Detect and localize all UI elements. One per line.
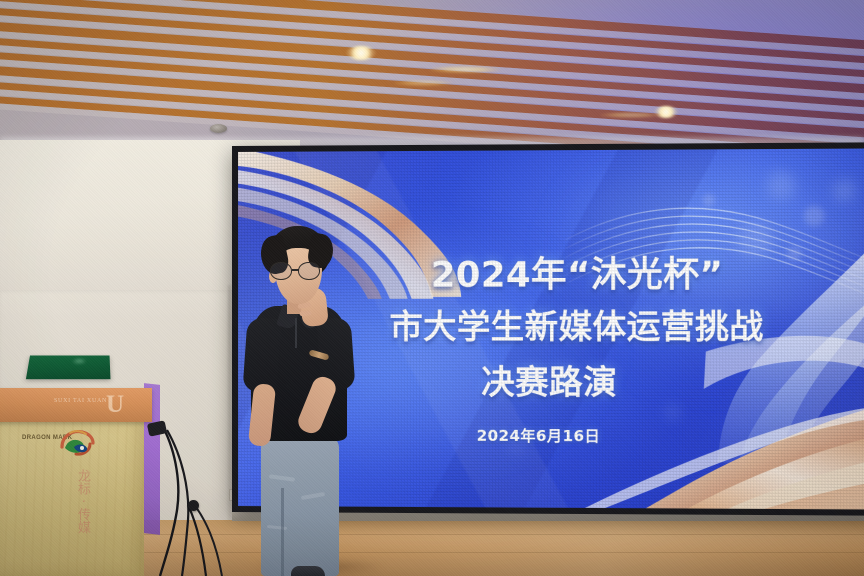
lectern-top-band: SUXI TAI XUAN U (0, 388, 152, 422)
podium-laptop-screen (26, 356, 111, 380)
slide-title-line-2: 市大学生新媒体运营挑战 (389, 300, 763, 349)
eyeglass-lens-left (270, 262, 292, 280)
slat-light-reflection (394, 80, 452, 86)
slide-title-line-1: 2024年“沐光杯” (431, 246, 724, 298)
ceiling (0, 0, 864, 152)
lectern-front-panel: DRAGON MARK 龙标 · 传媒 (0, 421, 144, 576)
dragon-mark-logo-icon (56, 427, 96, 457)
smoke-detector-icon (210, 124, 227, 133)
lectern: DRAGON MARK 龙标 · 传媒 SUXI TAI XUAN U (0, 388, 172, 576)
lectern-band-text: SUXI TAI XUAN (54, 398, 107, 404)
jeans-leg-seam (281, 488, 284, 576)
photo-scene: 2024年“沐光杯” 市大学生新媒体运营挑战 决赛路演 2024年6月16日 D… (0, 0, 864, 576)
polo-placket (295, 318, 297, 348)
eyeglass-bridge (292, 269, 299, 271)
university-u-logo-icon: U (104, 392, 126, 418)
eyeglass-lens-right (298, 262, 320, 280)
slat-light-reflection (430, 66, 500, 73)
finger (299, 310, 311, 316)
presenter-sleeve-left (242, 317, 281, 393)
lectern-vertical-text: 龙标 · 传媒 (52, 469, 92, 533)
slide-date: 2024年6月16日 (477, 425, 601, 447)
slat-light-reflection (600, 112, 662, 118)
presenter-jeans (261, 434, 339, 576)
laptop-screen-glint (74, 359, 84, 363)
cable-connector-icon (188, 500, 199, 511)
presenter (243, 226, 379, 576)
recessed-downlight-icon (346, 46, 376, 60)
eyeglasses-icon (270, 262, 328, 280)
slide-title-line-3: 决赛路演 (481, 355, 617, 404)
presenter-shoe (291, 566, 325, 576)
